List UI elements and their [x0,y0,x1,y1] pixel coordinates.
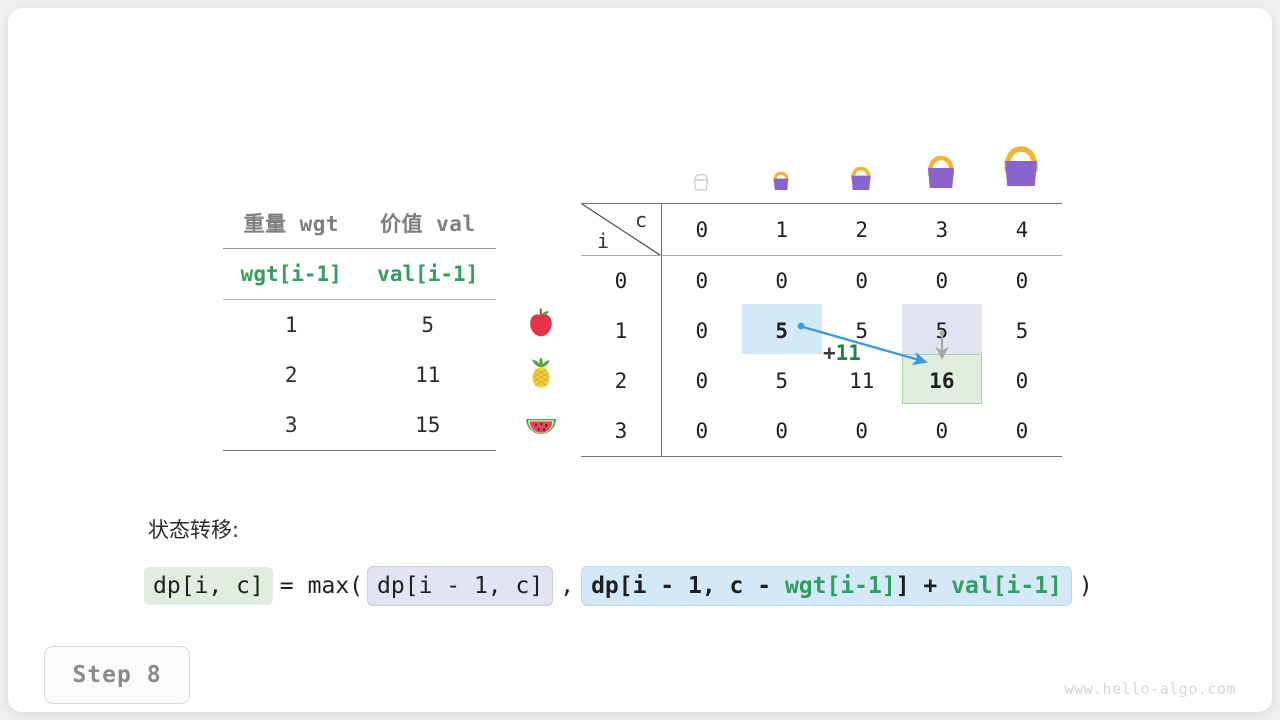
dp-table-wrapper: c i 0 1 2 3 4 0 0 0 0 0 0 1 0 5 [581,203,1062,453]
item-3-value: 15 [360,400,497,451]
dp-col-header-4: 4 [982,204,1062,256]
footer-url: www.hello-algo.com [1064,680,1236,698]
item-table-subheader-row: wgt[i-1] val[i-1] [223,249,496,300]
subheader-wgt: wgt[i-1] [223,249,360,300]
table-row: 3 0 0 0 0 0 [581,406,1062,457]
dp-cell-1-1: 5 [742,306,822,356]
dp-cell-1-3: 5 [902,306,982,356]
bag-capacity-icons [661,136,1062,198]
dp-col-header-1: 1 [742,204,822,256]
step-badge: Step 8 [44,646,190,704]
dp-cell-1-4: 5 [982,306,1062,356]
item-1-value: 5 [360,300,497,351]
table-row: 1 0 5 5 5 5 [581,306,1062,356]
formula-lhs: dp[i, c] [144,567,273,605]
formula-arg-take-prefix: dp[i - 1, c - [591,573,785,599]
dp-row-header-0: 0 [581,256,662,307]
dp-cell-2-4: 0 [982,356,1062,406]
dp-cell-2-3: 16 [902,356,982,406]
dp-table: c i 0 1 2 3 4 0 0 0 0 0 0 1 0 5 [581,203,1062,457]
formula-equals: = [273,573,301,599]
gain-value: 11 [836,341,861,365]
dp-cell-0-4: 0 [982,256,1062,307]
header-value: 价值 val [360,198,497,249]
table-row: 2 0 5 11 16 0 [581,356,1062,406]
header-weight: 重量 wgt [223,198,360,249]
item-2-weight: 2 [223,350,360,400]
formula-max-open: max( [301,573,367,599]
bag-icon-4 [981,136,1061,198]
dp-col-header-3: 3 [902,204,982,256]
dp-cell-3-4: 0 [982,406,1062,457]
dp-cell-0-0: 0 [662,256,742,307]
gain-annotation: +11 [823,341,861,365]
formula-arg-take: dp[i - 1, c - wgt[i-1]] + val[i-1] [581,566,1072,606]
bag-icon-2 [821,158,901,198]
table-row: 3 15 [223,400,496,451]
dp-cell-1-0: 0 [662,306,742,356]
formula-arg-take-mid: ] + [896,573,951,599]
bag-icon-1 [741,164,821,198]
apple-icon [513,298,569,348]
dp-col-header-0: 0 [662,204,742,256]
dp-row-header-1: 1 [581,306,662,356]
transition-caption: 状态转移: [148,514,239,544]
dp-col-header-2: 2 [822,204,902,256]
item-3-weight: 3 [223,400,360,451]
table-row: 1 5 [223,300,496,351]
bag-icon-0 [661,170,741,198]
dp-corner-cell: c i [581,204,662,256]
dp-cell-3-1: 0 [742,406,822,457]
dp-row-header-2: 2 [581,356,662,406]
table-row: 0 0 0 0 0 0 [581,256,1062,307]
gain-sign: + [823,341,836,365]
formula-close-paren: ) [1072,573,1100,599]
dp-cell-0-2: 0 [822,256,902,307]
pineapple-icon [513,348,569,398]
subheader-val: val[i-1] [360,249,497,300]
dp-row-axis-label: i [597,229,609,253]
dp-cell-2-0: 0 [662,356,742,406]
item-table-header-row: 重量 wgt 价值 val [223,198,496,249]
transition-formula: dp[i, c] = max( dp[i - 1, c] , dp[i - 1,… [144,566,1100,606]
item-icons-column [513,298,569,448]
item-2-value: 11 [360,350,497,400]
dp-cell-3-2: 0 [822,406,902,457]
corner-diagonal-icon [581,204,661,255]
formula-arg-take-val: val[i-1] [951,573,1062,599]
formula-arg-skip: dp[i - 1, c] [367,566,553,606]
dp-cell-3-0: 0 [662,406,742,457]
dp-cell-3-3: 0 [902,406,982,457]
dp-row-header-3: 3 [581,406,662,457]
dp-col-axis-label: c [635,208,647,232]
dp-cell-2-1: 5 [742,356,822,406]
item-weights-values-table: 重量 wgt 价值 val wgt[i-1] val[i-1] 1 5 2 11… [223,198,496,451]
dp-cell-0-3: 0 [902,256,982,307]
formula-arg-take-wgt: wgt[i-1] [785,573,896,599]
item-1-weight: 1 [223,300,360,351]
dp-header-row: c i 0 1 2 3 4 [581,204,1062,256]
formula-comma: , [553,573,581,599]
table-row: 2 11 [223,350,496,400]
bag-icon-3 [901,146,981,198]
watermelon-icon [513,398,569,448]
slide-card: 重量 wgt 价值 val wgt[i-1] val[i-1] 1 5 2 11… [8,8,1272,712]
dp-cell-0-1: 0 [742,256,822,307]
